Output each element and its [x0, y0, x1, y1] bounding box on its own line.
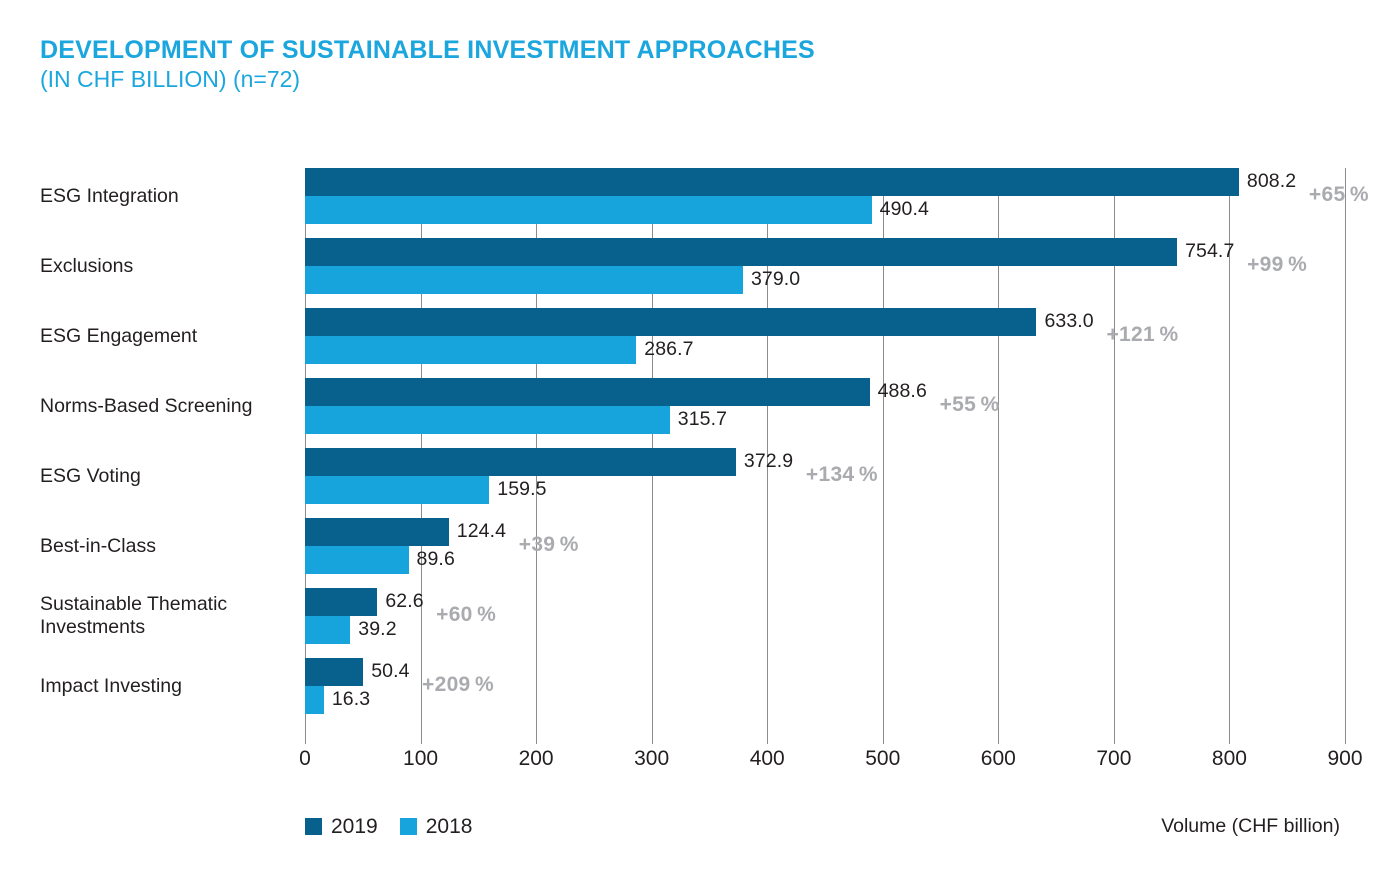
bar-2019[interactable] — [305, 168, 1239, 196]
legend-label: 2018 — [426, 816, 473, 837]
bar-value-label-2019: 372.9 — [744, 447, 793, 475]
gridline — [1345, 168, 1346, 735]
bar-value-label-2018: 315.7 — [678, 405, 727, 433]
category-label: Sustainable Thematic Investments — [40, 593, 295, 639]
growth-annotation: +99 % — [1247, 251, 1307, 279]
x-axis-tick-label: 0 — [265, 748, 345, 769]
bar-value-label-2018: 89.6 — [417, 545, 455, 573]
growth-annotation: +60 % — [436, 601, 496, 629]
bar-2018[interactable] — [305, 686, 324, 714]
bar-value-label-2018: 16.3 — [332, 685, 370, 713]
bar-2018[interactable] — [305, 616, 350, 644]
x-axis-caption: Volume (CHF billion) — [1161, 817, 1340, 837]
legend-swatch-icon — [305, 818, 322, 835]
title-block: DEVELOPMENT OF SUSTAINABLE INVESTMENT AP… — [40, 36, 1040, 94]
x-axis-tick-mark — [305, 735, 306, 744]
bar-2018[interactable] — [305, 196, 872, 224]
x-axis-tick-mark — [998, 735, 999, 744]
category-label: Exclusions — [40, 255, 295, 278]
x-axis-tick-label: 600 — [958, 748, 1038, 769]
x-axis-tick-label: 500 — [843, 748, 923, 769]
legend-label: 2019 — [331, 816, 378, 837]
bar-group: 372.9159.5+134 % — [305, 448, 1345, 504]
chart-plot-area: 808.2490.4+65 %754.7379.0+99 %633.0286.7… — [305, 168, 1345, 735]
bar-value-label-2019: 808.2 — [1247, 167, 1296, 195]
x-axis-tick-mark — [1345, 735, 1346, 744]
page-subtitle: (IN CHF BILLION) (n=72) — [40, 66, 1040, 94]
x-axis-tick-mark — [1229, 735, 1230, 744]
bar-group: 808.2490.4+65 % — [305, 168, 1345, 224]
bar-value-label-2018: 39.2 — [358, 615, 396, 643]
bar-2019[interactable] — [305, 588, 377, 616]
growth-annotation: +55 % — [940, 391, 1000, 419]
bar-group: 754.7379.0+99 % — [305, 238, 1345, 294]
bar-value-label-2019: 50.4 — [371, 657, 409, 685]
bar-2019[interactable] — [305, 238, 1177, 266]
growth-annotation: +65 % — [1309, 181, 1369, 209]
bar-2019[interactable] — [305, 378, 870, 406]
category-label: Norms-Based Screening — [40, 395, 295, 418]
growth-annotation: +121 % — [1106, 321, 1178, 349]
bar-2018[interactable] — [305, 476, 489, 504]
legend-item[interactable]: 2018 — [400, 816, 473, 837]
bar-2019[interactable] — [305, 308, 1036, 336]
growth-annotation: +209 % — [422, 671, 494, 699]
category-label: ESG Voting — [40, 465, 295, 488]
bar-group: 633.0286.7+121 % — [305, 308, 1345, 364]
legend-item[interactable]: 2019 — [305, 816, 378, 837]
x-axis-tick-label: 700 — [1074, 748, 1154, 769]
page-title: DEVELOPMENT OF SUSTAINABLE INVESTMENT AP… — [40, 36, 1040, 64]
x-axis-tick-label: 800 — [1189, 748, 1269, 769]
chart-legend: 20192018 — [305, 816, 472, 837]
x-axis-tick-mark — [652, 735, 653, 744]
bar-2018[interactable] — [305, 546, 409, 574]
bar-group: 62.639.2+60 % — [305, 588, 1345, 644]
bar-value-label-2019: 633.0 — [1044, 307, 1093, 335]
bar-value-label-2019: 754.7 — [1185, 237, 1234, 265]
bar-2019[interactable] — [305, 658, 363, 686]
bar-value-label-2019: 124.4 — [457, 517, 506, 545]
x-axis-tick-mark — [1114, 735, 1115, 744]
bar-group: 124.489.6+39 % — [305, 518, 1345, 574]
bar-value-label-2018: 490.4 — [880, 195, 929, 223]
x-axis-tick-mark — [536, 735, 537, 744]
category-label: ESG Integration — [40, 185, 295, 208]
bar-2018[interactable] — [305, 266, 743, 294]
x-axis-tick-label: 400 — [727, 748, 807, 769]
bar-group: 50.416.3+209 % — [305, 658, 1345, 714]
bar-2019[interactable] — [305, 448, 736, 476]
bar-value-label-2018: 286.7 — [644, 335, 693, 363]
x-axis-tick-mark — [767, 735, 768, 744]
bar-value-label-2019: 62.6 — [385, 587, 423, 615]
category-label: Best-in-Class — [40, 535, 295, 558]
bar-2018[interactable] — [305, 336, 636, 364]
bar-2019[interactable] — [305, 518, 449, 546]
x-axis-tick-label: 900 — [1305, 748, 1380, 769]
bar-group: 488.6315.7+55 % — [305, 378, 1345, 434]
legend-swatch-icon — [400, 818, 417, 835]
x-axis-tick-label: 300 — [612, 748, 692, 769]
bar-2018[interactable] — [305, 406, 670, 434]
x-axis-tick-mark — [883, 735, 884, 744]
bar-value-label-2019: 488.6 — [878, 377, 927, 405]
x-axis-tick-label: 100 — [381, 748, 461, 769]
category-label: ESG Engagement — [40, 325, 295, 348]
x-axis-tick-mark — [421, 735, 422, 744]
category-label: Impact Investing — [40, 675, 295, 698]
growth-annotation: +134 % — [806, 461, 878, 489]
bar-value-label-2018: 159.5 — [497, 475, 546, 503]
x-axis-tick-label: 200 — [496, 748, 576, 769]
growth-annotation: +39 % — [519, 531, 579, 559]
bar-value-label-2018: 379.0 — [751, 265, 800, 293]
